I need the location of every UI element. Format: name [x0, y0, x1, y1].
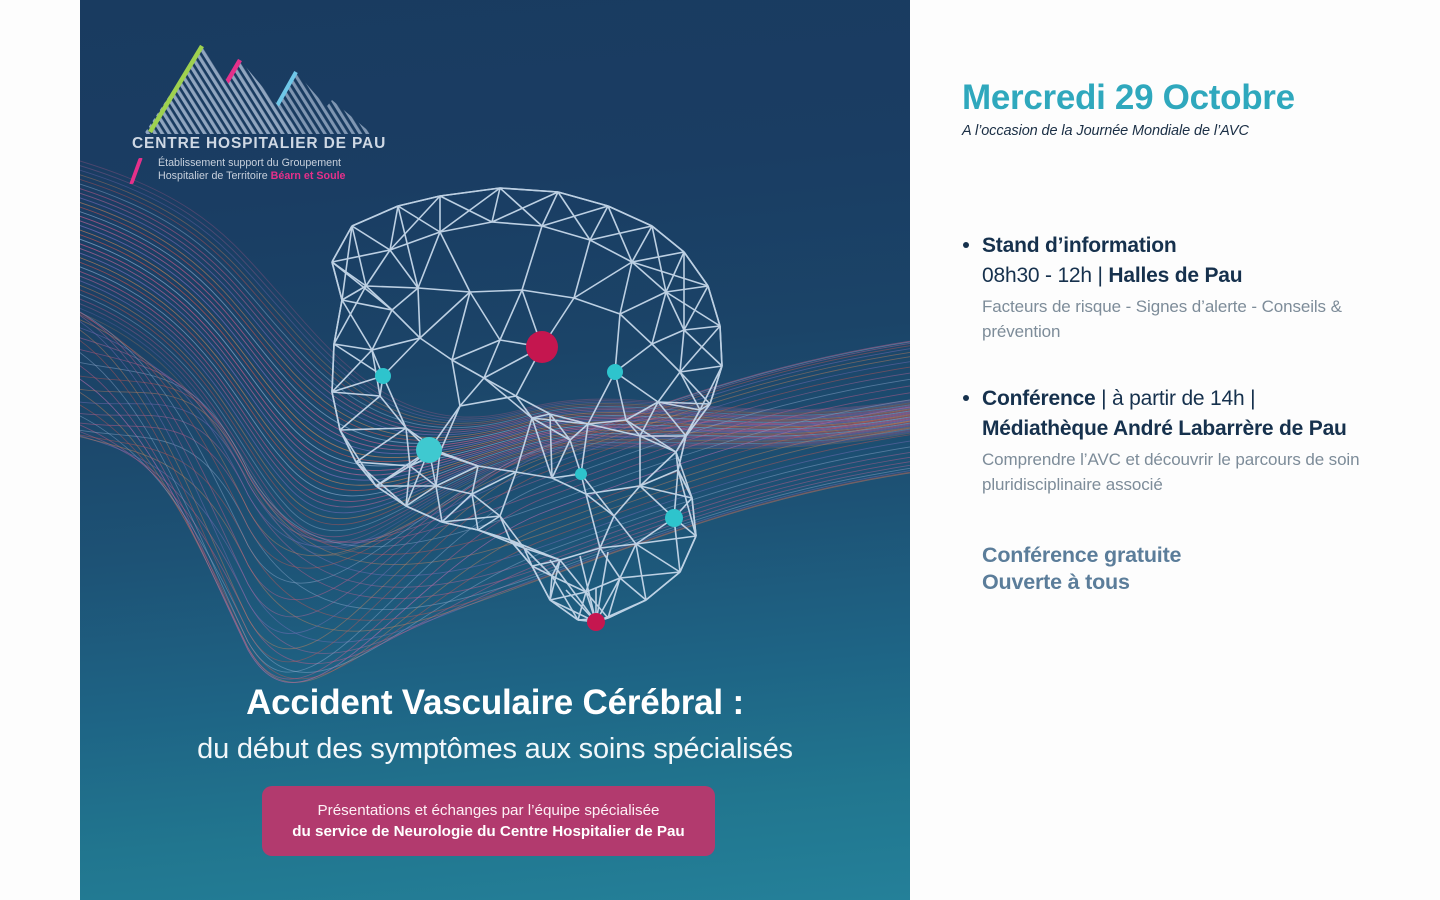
event-2-title-bold-1: Conférence — [982, 387, 1096, 410]
banner-line2: du service de Neurologie du Centre Hospi… — [292, 821, 684, 842]
logo-slash-icon — [129, 158, 142, 184]
free-line1: Conférence gratuite — [982, 542, 1382, 569]
event-item-conference: Conférence | à partir de 14h | Médiathèq… — [962, 384, 1382, 497]
events-list: Stand d’information 08h30 - 12h | Halles… — [962, 231, 1382, 497]
event-1-title: Stand d’information — [982, 234, 1177, 257]
event-2-heading: Conférence | à partir de 14h | Médiathèq… — [982, 384, 1382, 444]
logo-sub-line1: Établissement support du Groupement — [158, 157, 428, 170]
presentation-banner: Présentations et échanges par l’équipe s… — [262, 786, 715, 856]
banner-line1: Présentations et échanges par l’équipe s… — [318, 800, 660, 821]
logo-sub-line2-prefix: Hospitalier de Territoire — [158, 170, 271, 182]
mountains-icon — [136, 38, 372, 138]
event-2-title-regular: | à partir de 14h | — [1096, 387, 1256, 410]
hospital-logo: CENTRE HOSPITALIER DE PAU Établissement … — [128, 38, 428, 182]
poster-artwork-panel: CENTRE HOSPITALIER DE PAU Établissement … — [80, 0, 910, 900]
event-1-description: Facteurs de risque - Signes d’alerte - C… — [982, 294, 1382, 344]
logo-sub-line2: Hospitalier de Territoire Béarn et Soule — [158, 170, 428, 183]
logo-name: CENTRE HOSPITALIER DE PAU — [132, 135, 428, 153]
free-entry-note: Conférence gratuite Ouverte à tous — [982, 542, 1382, 596]
free-line2: Ouverte à tous — [982, 569, 1382, 596]
brain-nodes — [375, 331, 683, 631]
bullet-icon — [963, 242, 969, 248]
event-item-stand: Stand d’information 08h30 - 12h | Halles… — [962, 231, 1382, 344]
event-date: Mercredi 29 Octobre — [962, 78, 1382, 118]
event-occasion: A l’occasion de la Journée Mondiale de l… — [962, 123, 1382, 139]
event-2-description: Comprendre l’AVC et découvrir le parcour… — [982, 447, 1382, 497]
poster-page: CENTRE HOSPITALIER DE PAU Établissement … — [0, 0, 1440, 900]
event-1-detail-bold: Halles de Pau — [1108, 264, 1242, 287]
info-panel: Mercredi 29 Octobre A l’occasion de la J… — [910, 0, 1440, 900]
logo-subtitle: Établissement support du Groupement Hosp… — [128, 157, 428, 182]
event-1-detail-regular: 08h30 - 12h | — [982, 264, 1108, 287]
bullet-icon — [963, 395, 969, 401]
poster-subtitle: du début des symptômes aux soins spécial… — [80, 733, 910, 766]
wave-ribbon-group — [80, 150, 910, 683]
logo-sub-line2-highlight: Béarn et Soule — [271, 170, 346, 182]
event-1-heading: Stand d’information 08h30 - 12h | Halles… — [982, 231, 1382, 291]
poster-title: Accident Vasculaire Cérébral : — [80, 683, 910, 723]
event-2-title-bold-2: Médiathèque André Labarrère de Pau — [982, 417, 1347, 440]
